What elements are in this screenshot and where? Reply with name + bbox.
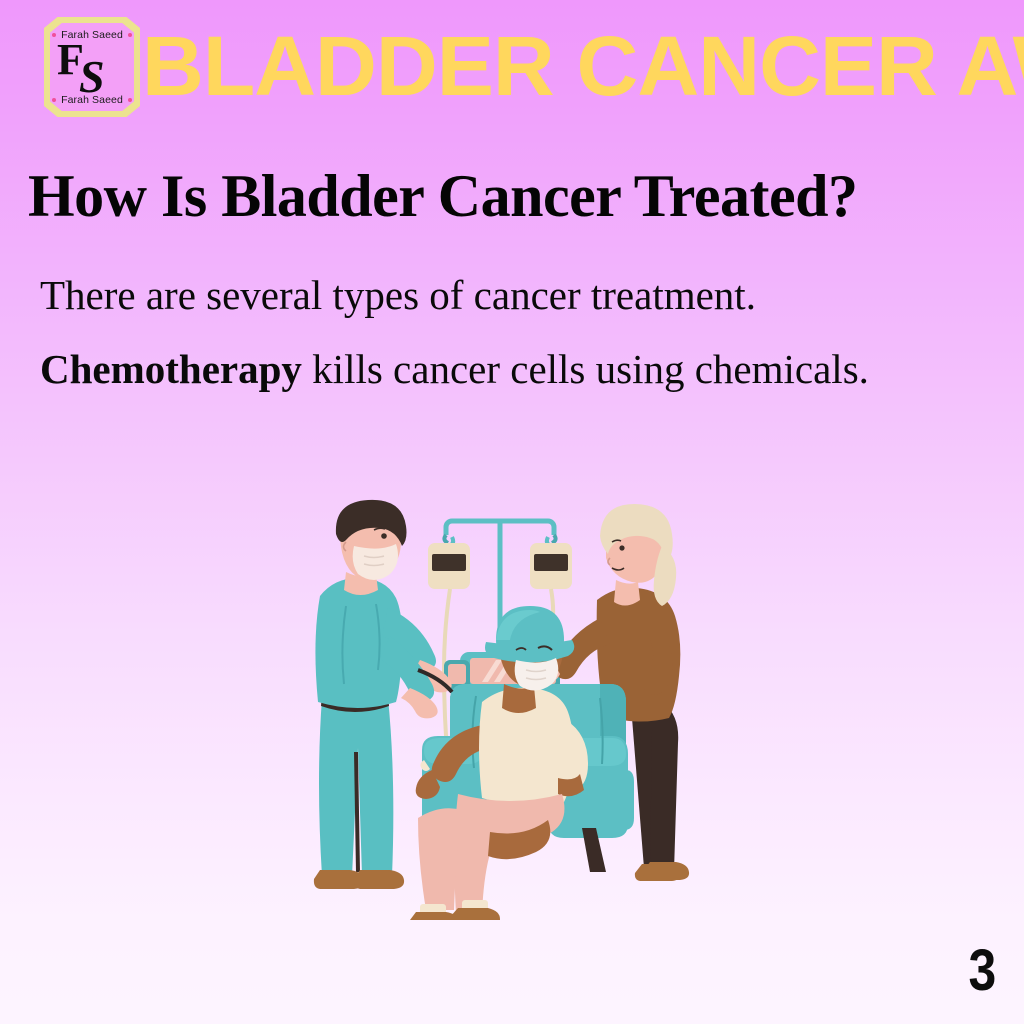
brand-logo-badge: Farah Saeed F S Farah Saeed [44,17,140,117]
logo-dot-right-bottom [128,98,132,102]
chemotherapy-term: Chemotherapy [40,346,302,392]
page-title: How Is Bladder Cancer Treated? [28,160,996,232]
body-copy: There are several types of cancer treatm… [40,258,990,406]
poster-banner-title: BLADDER CANCER AWARENESS [142,18,1019,116]
paragraph-two-rest: kills cancer cells using chemicals. [302,346,869,392]
patient-figure [410,606,588,920]
poster-header: Farah Saeed F S Farah Saeed BLADDER CANC… [0,0,1024,132]
logo-dot-left-bottom [52,98,56,102]
logo-bottom-text: Farah Saeed [61,94,123,106]
poster-canvas: Farah Saeed F S Farah Saeed BLADDER CANC… [0,0,1024,1024]
logo-bottom-line: Farah Saeed [44,94,140,106]
page-number: 3 [968,942,996,1000]
logo-dot-right-top [128,33,132,37]
chemotherapy-illustration [300,488,720,920]
logo-dot-left-top [52,33,56,37]
logo-monogram: F S [44,40,140,96]
paragraph-one: There are several types of cancer treatm… [40,272,756,318]
svg-text:S: S [79,51,105,96]
